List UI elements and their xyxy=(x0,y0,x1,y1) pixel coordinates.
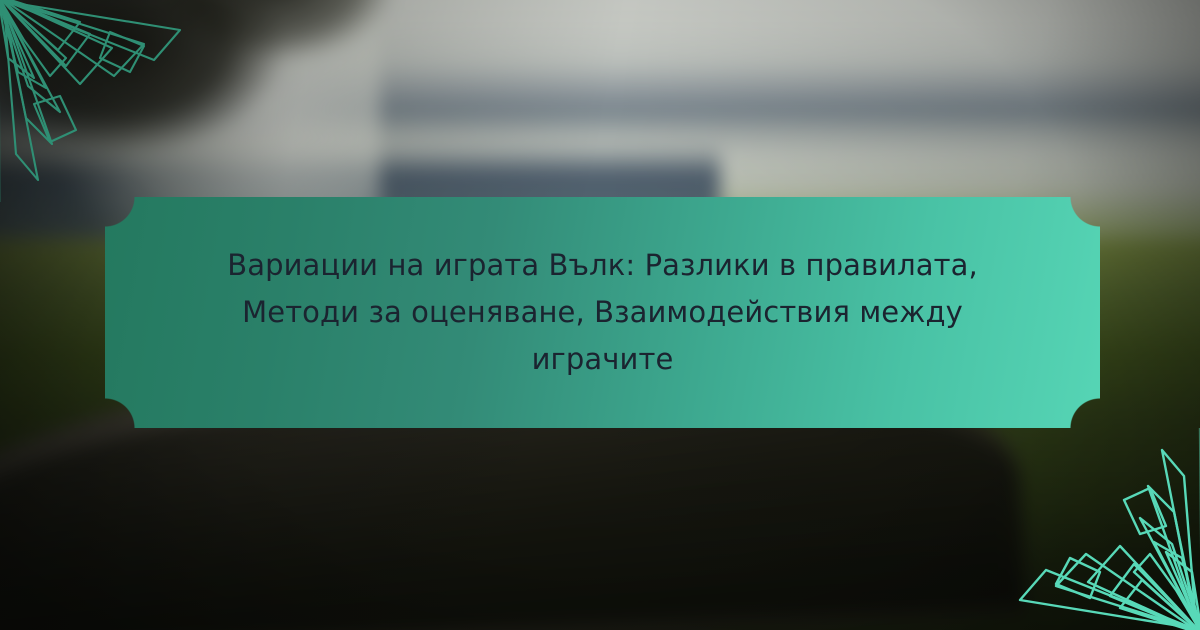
page-title: Вариации на играта Вълк: Разлики в прави… xyxy=(113,242,1093,383)
title-card: Вариации на играта Вълк: Разлики в прави… xyxy=(105,197,1100,428)
corner-ornament-bottom-right-icon xyxy=(996,428,1200,630)
corner-ornament-top-left-icon xyxy=(0,0,204,202)
og-image-canvas: Вариации на играта Вълк: Разлики в прави… xyxy=(0,0,1200,630)
